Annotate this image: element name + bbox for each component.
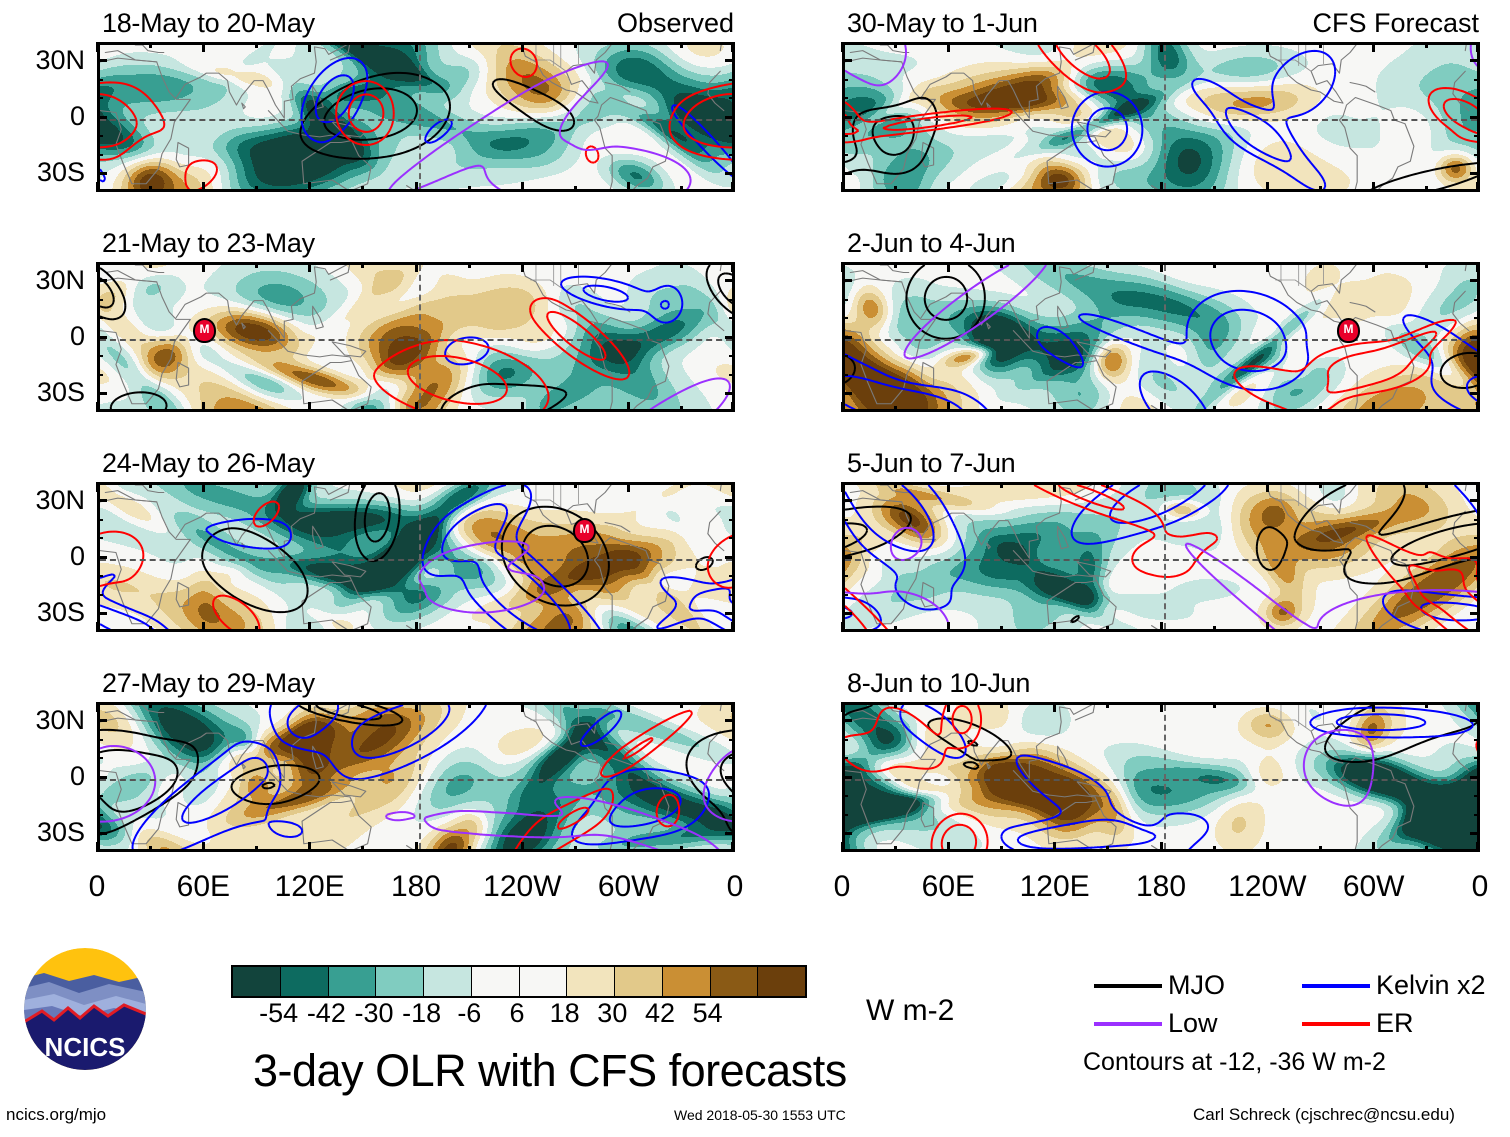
x-axis-minor-tick xyxy=(1425,262,1428,268)
x-axis-tick xyxy=(1476,702,1479,712)
x-axis-minor-tick xyxy=(255,482,258,488)
y-axis-tick xyxy=(725,556,735,559)
x-axis-minor-tick xyxy=(1106,846,1109,852)
y-axis-minor-tick xyxy=(729,537,735,539)
x-axis-minor-tick xyxy=(1000,186,1003,192)
x-axis-minor-tick xyxy=(680,482,683,488)
x-axis-minor-tick xyxy=(1425,702,1428,708)
x-axis-minor-tick xyxy=(1106,482,1109,488)
dateline-marker xyxy=(1164,265,1166,409)
x-axis-minor-tick xyxy=(1000,262,1003,268)
y-axis-tick xyxy=(97,832,107,835)
dateline-marker xyxy=(1164,485,1166,629)
x-axis-tick xyxy=(1266,622,1269,632)
x-axis-tick xyxy=(415,622,418,632)
y-axis-tick xyxy=(1470,612,1480,615)
y-axis-minor-tick xyxy=(729,79,735,81)
x-axis-tick xyxy=(947,622,950,632)
x-axis-minor-tick xyxy=(1319,702,1322,708)
ncics-logo: NCICS xyxy=(24,948,146,1070)
y-axis-minor-tick xyxy=(842,814,848,816)
y-axis-minor-tick xyxy=(842,374,848,376)
colorbar-tick-label: 18 xyxy=(550,1000,580,1027)
dateline-marker xyxy=(419,45,421,189)
footer-author: Carl Schreck (cjschrec@ncsu.edu) xyxy=(1193,1106,1455,1123)
x-axis-minor-tick xyxy=(1000,846,1003,852)
x-axis-tick xyxy=(1476,402,1479,412)
x-axis-tick xyxy=(521,182,524,192)
colorbar-segment xyxy=(233,967,280,996)
colorbar-tick-label: -6 xyxy=(457,1000,481,1027)
x-axis-minor-tick xyxy=(574,262,577,268)
x-axis-tick xyxy=(731,402,734,412)
y-axis-minor-tick xyxy=(842,317,848,319)
y-axis-minor-tick xyxy=(842,594,848,596)
x-axis-tick xyxy=(947,402,950,412)
colorbar xyxy=(231,965,807,998)
x-axis-minor-tick xyxy=(574,482,577,488)
y-axis-minor-tick xyxy=(97,757,103,759)
x-axis-minor-tick xyxy=(1000,626,1003,632)
x-axis-minor-tick xyxy=(1106,406,1109,412)
x-axis-minor-tick xyxy=(149,846,152,852)
x-axis-tick xyxy=(1160,402,1163,412)
x-axis-tick xyxy=(731,262,734,272)
storm-marker: M xyxy=(1337,318,1360,343)
y-axis-minor-tick xyxy=(729,519,735,521)
x-axis-minor-tick xyxy=(1106,186,1109,192)
ncics-logo-graphic: NCICS xyxy=(24,948,146,1070)
x-axis-tick xyxy=(731,622,734,632)
y-axis-tick xyxy=(842,556,852,559)
y-axis-minor-tick xyxy=(97,519,103,521)
x-axis-tick xyxy=(96,402,99,412)
x-axis-tick xyxy=(627,42,630,52)
x-axis-tick xyxy=(308,42,311,52)
y-axis-minor-tick xyxy=(729,739,735,741)
x-axis-minor-tick xyxy=(1213,482,1216,488)
equator-line xyxy=(845,559,1477,561)
x-axis-tick xyxy=(1266,42,1269,52)
colorbar-segment xyxy=(280,967,328,996)
y-axis-minor-tick xyxy=(842,355,848,357)
y-axis-tick xyxy=(725,832,735,835)
x-axis-minor-tick xyxy=(255,626,258,632)
x-axis-tick xyxy=(947,42,950,52)
y-axis-minor-tick xyxy=(729,135,735,137)
x-axis-minor-tick xyxy=(149,406,152,412)
x-axis-tick xyxy=(1372,402,1375,412)
x-axis-tick xyxy=(96,702,99,712)
x-axis-minor-tick xyxy=(1000,42,1003,48)
y-axis-tick xyxy=(1470,719,1480,722)
y-axis-tick xyxy=(842,392,852,395)
x-axis-minor-tick xyxy=(255,846,258,852)
y-axis-minor-tick xyxy=(1474,374,1480,376)
y-axis-tick xyxy=(97,59,107,62)
y-axis-minor-tick xyxy=(1474,317,1480,319)
y-axis-minor-tick xyxy=(97,594,103,596)
y-axis-minor-tick xyxy=(729,757,735,759)
x-axis-tick xyxy=(96,262,99,272)
y-axis-minor-tick xyxy=(729,97,735,99)
x-axis-minor-tick xyxy=(574,186,577,192)
y-axis-minor-tick xyxy=(97,154,103,156)
panel-title: 21-May to 23-May xyxy=(102,230,315,257)
y-axis-tick xyxy=(725,499,735,502)
x-axis-tick xyxy=(521,402,524,412)
y-axis-label: 30S xyxy=(0,159,85,186)
x-axis-tick xyxy=(1053,842,1056,852)
y-axis-minor-tick xyxy=(97,575,103,577)
x-axis-tick xyxy=(1476,182,1479,192)
x-axis-minor-tick xyxy=(468,626,471,632)
y-axis-tick xyxy=(725,279,735,282)
x-axis-labels-right: 060E120E180120W60W0 xyxy=(842,872,1480,906)
map-plot-area xyxy=(97,482,735,632)
colorbar-segment xyxy=(471,967,519,996)
map-plot-area xyxy=(842,702,1480,852)
x-axis-minor-tick xyxy=(680,702,683,708)
x-axis-tick xyxy=(1160,842,1163,852)
y-axis-minor-tick xyxy=(1474,814,1480,816)
x-axis-minor-tick xyxy=(1213,42,1216,48)
footer-timestamp: Wed 2018-05-30 1553 UTC xyxy=(674,1108,846,1122)
colorbar-segment xyxy=(757,967,805,996)
y-axis-tick xyxy=(97,116,107,119)
x-axis-tick xyxy=(1053,402,1056,412)
x-axis-tick-label: 120W xyxy=(483,872,561,902)
y-axis-tick xyxy=(1470,832,1480,835)
x-axis-tick xyxy=(308,702,311,712)
y-axis-minor-tick xyxy=(842,757,848,759)
x-axis-minor-tick xyxy=(361,482,364,488)
column-header-observed: Observed xyxy=(617,10,734,37)
colorbar-segment xyxy=(662,967,710,996)
y-axis-minor-tick xyxy=(729,317,735,319)
x-axis-minor-tick xyxy=(1425,42,1428,48)
x-axis-tick xyxy=(841,622,844,632)
y-axis-minor-tick xyxy=(842,537,848,539)
x-axis-tick xyxy=(1372,182,1375,192)
y-axis-minor-tick xyxy=(842,299,848,301)
x-axis-tick xyxy=(96,42,99,52)
colorbar-segment xyxy=(519,967,567,996)
y-axis-tick xyxy=(842,719,852,722)
y-axis-label: 30N xyxy=(0,707,85,734)
x-axis-tick xyxy=(627,622,630,632)
dateline-marker xyxy=(1164,45,1166,189)
x-axis-minor-tick xyxy=(1000,406,1003,412)
legend-line-swatch xyxy=(1302,1022,1370,1026)
colorbar-segment xyxy=(566,967,614,996)
x-axis-tick xyxy=(1053,482,1056,492)
x-axis-minor-tick xyxy=(149,626,152,632)
y-axis-minor-tick xyxy=(1474,154,1480,156)
panel-title: 18-May to 20-May xyxy=(102,10,315,37)
x-axis-minor-tick xyxy=(1425,482,1428,488)
x-axis-tick xyxy=(841,42,844,52)
y-axis-minor-tick xyxy=(729,299,735,301)
x-axis-tick xyxy=(1372,262,1375,272)
y-axis-tick xyxy=(1470,499,1480,502)
x-axis-tick xyxy=(202,182,205,192)
y-axis-tick xyxy=(725,116,735,119)
x-axis-tick xyxy=(947,702,950,712)
y-axis-minor-tick xyxy=(97,97,103,99)
x-axis-minor-tick xyxy=(680,846,683,852)
x-axis-minor-tick xyxy=(680,406,683,412)
y-axis-tick xyxy=(97,279,107,282)
x-axis-tick xyxy=(1476,842,1479,852)
olr-shading-canvas xyxy=(845,265,1477,409)
x-axis-tick xyxy=(202,842,205,852)
y-axis-label: 30S xyxy=(0,379,85,406)
y-axis-tick xyxy=(97,392,107,395)
x-axis-minor-tick xyxy=(468,406,471,412)
x-axis-minor-tick xyxy=(894,262,897,268)
y-axis-tick xyxy=(1470,116,1480,119)
y-axis-minor-tick xyxy=(1474,757,1480,759)
y-axis-minor-tick xyxy=(842,575,848,577)
x-axis-tick xyxy=(1372,42,1375,52)
x-axis-tick xyxy=(1372,702,1375,712)
x-axis-tick xyxy=(1372,842,1375,852)
legend-line-swatch xyxy=(1302,984,1370,988)
y-axis-label: 0 xyxy=(0,103,85,130)
x-axis-tick-label: 180 xyxy=(391,872,441,902)
x-axis-tick xyxy=(415,262,418,272)
x-axis-minor-tick xyxy=(468,702,471,708)
colorbar-tick-label: 30 xyxy=(597,1000,627,1027)
y-axis-tick xyxy=(1470,279,1480,282)
x-axis-minor-tick xyxy=(255,406,258,412)
x-axis-tick xyxy=(308,842,311,852)
x-axis-tick xyxy=(731,842,734,852)
x-axis-tick-label: 60W xyxy=(598,872,660,902)
x-axis-minor-tick xyxy=(361,42,364,48)
x-axis-minor-tick xyxy=(361,186,364,192)
x-axis-minor-tick xyxy=(255,186,258,192)
y-axis-tick xyxy=(725,392,735,395)
x-axis-tick xyxy=(731,482,734,492)
y-axis-tick xyxy=(97,336,107,339)
x-axis-tick-label: 180 xyxy=(1136,872,1186,902)
colorbar-tick-label: 54 xyxy=(693,1000,723,1027)
y-axis-minor-tick xyxy=(729,795,735,797)
x-axis-minor-tick xyxy=(1213,262,1216,268)
x-axis-tick xyxy=(841,702,844,712)
x-axis-minor-tick xyxy=(255,262,258,268)
legend-label: Low xyxy=(1168,1010,1218,1037)
footer-link[interactable]: ncics.org/mjo xyxy=(6,1106,106,1123)
y-axis-label: 30S xyxy=(0,599,85,626)
equator-line xyxy=(845,339,1477,341)
y-axis-minor-tick xyxy=(1474,97,1480,99)
x-axis-tick xyxy=(96,622,99,632)
y-axis-minor-tick xyxy=(729,374,735,376)
x-axis-tick xyxy=(308,482,311,492)
y-axis-minor-tick xyxy=(1474,795,1480,797)
x-axis-minor-tick xyxy=(361,262,364,268)
map-plot-area xyxy=(97,42,735,192)
x-axis-tick xyxy=(202,402,205,412)
colorbar-segment xyxy=(375,967,423,996)
y-axis-label: 30N xyxy=(0,487,85,514)
x-axis-tick xyxy=(308,182,311,192)
column-header-forecast: CFS Forecast xyxy=(1312,10,1479,37)
map-plot-area xyxy=(97,262,735,412)
y-axis-tick xyxy=(1470,556,1480,559)
x-axis-tick xyxy=(202,42,205,52)
x-axis-minor-tick xyxy=(1319,42,1322,48)
x-axis-tick-label: 0 xyxy=(89,872,106,902)
olr-shading-canvas xyxy=(845,485,1477,629)
x-axis-tick xyxy=(521,702,524,712)
ncics-logo-text: NCICS xyxy=(45,1032,126,1062)
y-axis-minor-tick xyxy=(1474,739,1480,741)
x-axis-tick xyxy=(841,402,844,412)
x-axis-tick xyxy=(1266,262,1269,272)
y-axis-tick xyxy=(97,172,107,175)
y-axis-minor-tick xyxy=(97,739,103,741)
x-axis-tick xyxy=(202,262,205,272)
x-axis-tick xyxy=(521,482,524,492)
y-axis-minor-tick xyxy=(842,97,848,99)
x-axis-minor-tick xyxy=(1106,702,1109,708)
x-axis-minor-tick xyxy=(1319,626,1322,632)
x-axis-tick-label: 60E xyxy=(922,872,975,902)
x-axis-minor-tick xyxy=(361,702,364,708)
y-axis-minor-tick xyxy=(729,814,735,816)
y-axis-minor-tick xyxy=(842,79,848,81)
storm-marker: M xyxy=(193,318,216,343)
y-axis-tick xyxy=(842,832,852,835)
x-axis-minor-tick xyxy=(680,262,683,268)
x-axis-tick xyxy=(415,182,418,192)
y-axis-tick xyxy=(1470,172,1480,175)
x-axis-minor-tick xyxy=(149,482,152,488)
y-axis-tick xyxy=(842,499,852,502)
y-axis-tick xyxy=(842,336,852,339)
x-axis-minor-tick xyxy=(894,42,897,48)
y-axis-minor-tick xyxy=(729,355,735,357)
x-axis-minor-tick xyxy=(1213,702,1216,708)
y-axis-tick xyxy=(1470,59,1480,62)
x-axis-tick xyxy=(1266,402,1269,412)
x-axis-minor-tick xyxy=(468,482,471,488)
equator-line xyxy=(100,119,732,121)
y-axis-tick xyxy=(1470,776,1480,779)
legend-label: Kelvin x2 xyxy=(1376,972,1486,999)
x-axis-tick xyxy=(521,262,524,272)
page-title: 3-day OLR with CFS forecasts xyxy=(253,1048,847,1093)
x-axis-tick xyxy=(627,842,630,852)
y-axis-minor-tick xyxy=(842,519,848,521)
legend-label: MJO xyxy=(1168,972,1225,999)
x-axis-tick xyxy=(1160,262,1163,272)
x-axis-tick xyxy=(308,402,311,412)
x-axis-tick xyxy=(627,182,630,192)
x-axis-tick-label: 0 xyxy=(727,872,744,902)
x-axis-tick xyxy=(731,42,734,52)
x-axis-labels-left: 060E120E180120W60W0 xyxy=(97,872,735,906)
x-axis-minor-tick xyxy=(255,42,258,48)
equator-line xyxy=(100,559,732,561)
y-axis-tick xyxy=(1470,392,1480,395)
y-axis-label: 30N xyxy=(0,267,85,294)
olr-shading-canvas xyxy=(100,705,732,849)
x-axis-minor-tick xyxy=(149,186,152,192)
y-axis-tick xyxy=(842,116,852,119)
y-axis-tick xyxy=(725,336,735,339)
colorbar-segment xyxy=(710,967,758,996)
x-axis-minor-tick xyxy=(894,626,897,632)
x-axis-tick xyxy=(947,482,950,492)
y-axis-minor-tick xyxy=(842,135,848,137)
x-axis-tick xyxy=(521,842,524,852)
x-axis-minor-tick xyxy=(894,846,897,852)
y-axis-minor-tick xyxy=(1474,575,1480,577)
colorbar-tick-label: -54 xyxy=(259,1000,298,1027)
x-axis-tick xyxy=(308,622,311,632)
panel-title: 27-May to 29-May xyxy=(102,670,315,697)
x-axis-minor-tick xyxy=(1319,186,1322,192)
x-axis-tick xyxy=(521,622,524,632)
x-axis-tick xyxy=(841,482,844,492)
x-axis-tick xyxy=(1160,482,1163,492)
x-axis-minor-tick xyxy=(680,42,683,48)
x-axis-tick xyxy=(627,262,630,272)
x-axis-tick xyxy=(1053,702,1056,712)
x-axis-minor-tick xyxy=(1319,406,1322,412)
equator-line xyxy=(845,779,1477,781)
legend-label: ER xyxy=(1376,1010,1414,1037)
y-axis-minor-tick xyxy=(1474,519,1480,521)
x-axis-minor-tick xyxy=(1319,482,1322,488)
y-axis-minor-tick xyxy=(97,299,103,301)
map-plot-area xyxy=(842,482,1480,632)
x-axis-tick xyxy=(1053,42,1056,52)
y-axis-tick xyxy=(842,279,852,282)
x-axis-tick xyxy=(1476,482,1479,492)
legend-line-swatch xyxy=(1094,984,1162,988)
y-axis-minor-tick xyxy=(97,537,103,539)
storm-marker: M xyxy=(573,518,596,543)
x-axis-tick xyxy=(841,182,844,192)
y-axis-tick xyxy=(97,776,107,779)
y-axis-tick xyxy=(842,776,852,779)
y-axis-tick xyxy=(725,59,735,62)
x-axis-minor-tick xyxy=(1213,186,1216,192)
y-axis-minor-tick xyxy=(97,355,103,357)
x-axis-tick xyxy=(947,262,950,272)
y-axis-label: 30S xyxy=(0,819,85,846)
y-axis-minor-tick xyxy=(1474,594,1480,596)
x-axis-tick-label: 120E xyxy=(275,872,345,902)
x-axis-tick xyxy=(1160,182,1163,192)
y-axis-minor-tick xyxy=(97,795,103,797)
y-axis-tick xyxy=(97,556,107,559)
y-axis-tick xyxy=(842,59,852,62)
y-axis-minor-tick xyxy=(97,374,103,376)
x-axis-tick xyxy=(1476,42,1479,52)
y-axis-minor-tick xyxy=(729,575,735,577)
x-axis-tick xyxy=(1160,622,1163,632)
panel-title: 24-May to 26-May xyxy=(102,450,315,477)
x-axis-minor-tick xyxy=(468,262,471,268)
dateline-marker xyxy=(419,265,421,409)
